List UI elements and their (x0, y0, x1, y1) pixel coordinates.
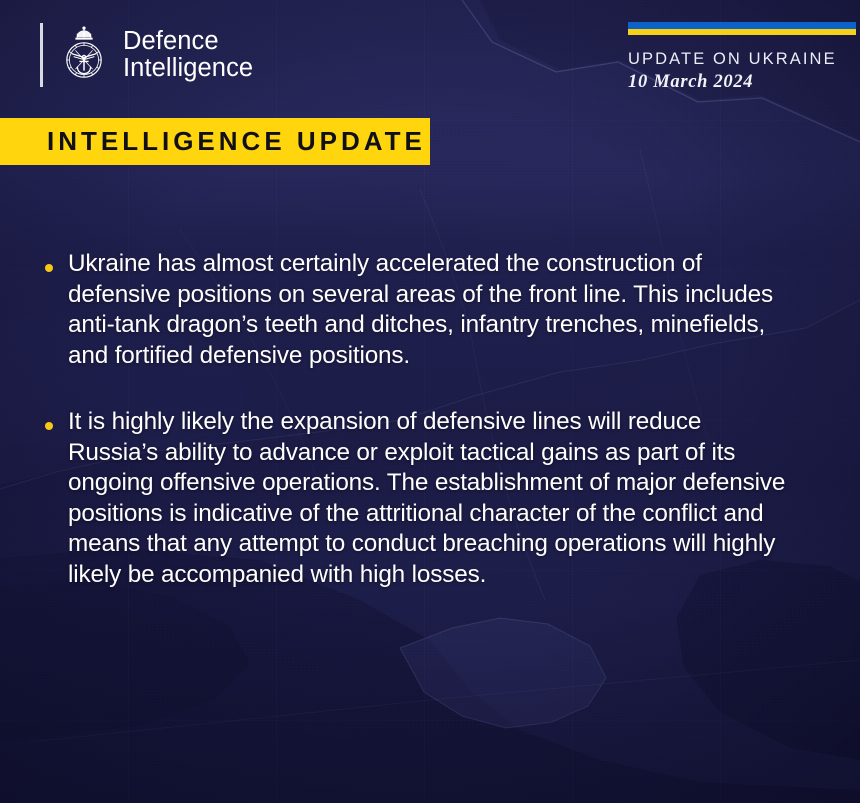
brand-lockup: Defence Intelligence (40, 22, 253, 88)
bullet-text: It is highly likely the expansion of def… (68, 407, 790, 590)
flag-stripe-yellow (628, 29, 856, 36)
banner-label: INTELLIGENCE UPDATE (47, 126, 426, 157)
update-title: UPDATE ON UKRAINE (628, 50, 860, 69)
header: Defence Intelligence UPDATE ON UKRAINE 1… (0, 0, 860, 112)
organisation-line-1: Defence (123, 28, 253, 55)
slide-canvas: Defence Intelligence UPDATE ON UKRAINE 1… (0, 0, 860, 803)
bullet-text: Ukraine has almost certainly accelerated… (68, 249, 790, 371)
organisation-name: Defence Intelligence (123, 28, 253, 82)
mod-defence-intelligence-crest-icon (58, 24, 110, 86)
intelligence-update-banner: INTELLIGENCE UPDATE (0, 118, 430, 165)
list-item: It is highly likely the expansion of def… (0, 407, 860, 590)
update-date: 10 March 2024 (628, 72, 860, 93)
gold-dot-icon (45, 264, 53, 272)
list-item: Ukraine has almost certainly accelerated… (0, 249, 860, 371)
organisation-line-2: Intelligence (123, 55, 253, 82)
bullet-list: Ukraine has almost certainly accelerated… (0, 249, 860, 626)
ukraine-flag-bar-icon (628, 22, 856, 35)
brand-divider-rule (40, 23, 43, 87)
gold-dot-icon (45, 422, 53, 430)
header-right-block: UPDATE ON UKRAINE 10 March 2024 (628, 22, 860, 93)
